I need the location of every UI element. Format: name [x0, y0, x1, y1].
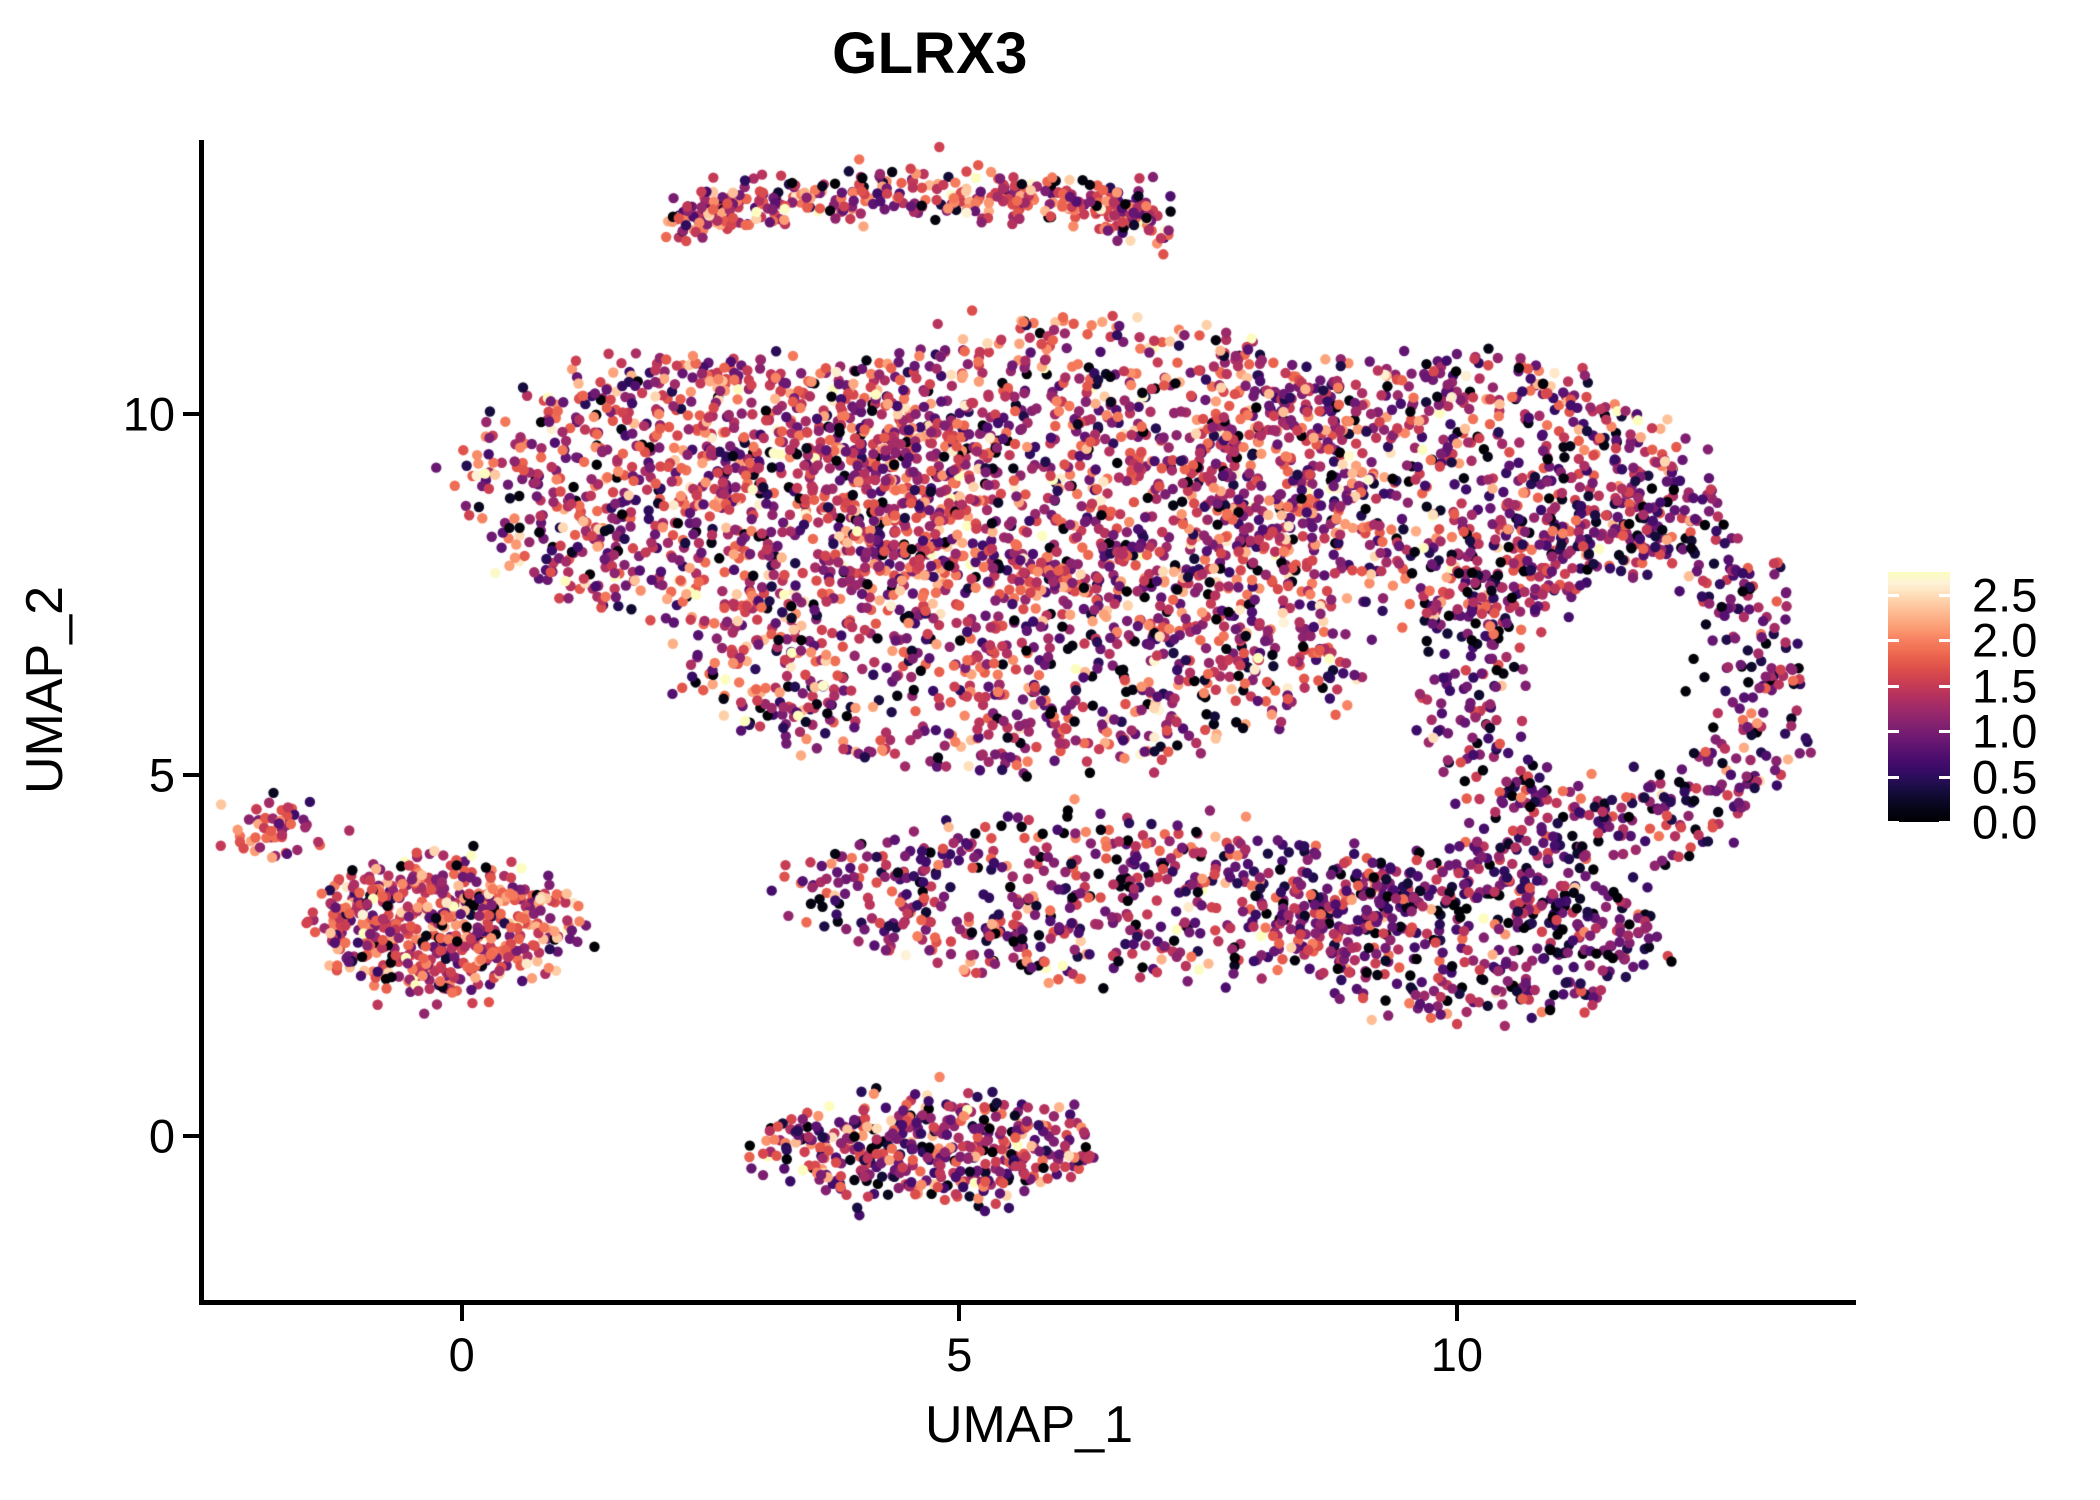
- colorbar-tick-mark: [1888, 730, 1899, 733]
- colorbar-tick-mark: [1888, 821, 1899, 824]
- colorbar-tick-mark: [1888, 685, 1899, 688]
- x-tick-label: 5: [946, 1327, 972, 1382]
- y-tick-label: 0: [149, 1109, 175, 1164]
- x-tick-mark: [1455, 1305, 1459, 1321]
- y-tick-label: 10: [123, 387, 175, 442]
- y-tick-mark: [183, 1134, 199, 1138]
- y-axis-line: [199, 140, 204, 1305]
- plot-panel: [203, 140, 1855, 1302]
- umap-feature-plot: GLRX3 UMAP_1 UMAP_2 2.52.01.51.00.50.0 0…: [0, 0, 2100, 1500]
- colorbar-tick-mark: [1888, 776, 1899, 779]
- y-tick-mark: [183, 412, 199, 416]
- colorbar-tick-mark: [1939, 639, 1950, 642]
- scatter-points-layer: [203, 140, 1855, 1302]
- colorbar-tick-mark: [1888, 639, 1899, 642]
- x-tick-mark: [460, 1305, 464, 1321]
- page-title: GLRX3: [0, 20, 1860, 87]
- colorbar-tick-mark: [1939, 821, 1950, 824]
- colorbar-tick-mark: [1939, 685, 1950, 688]
- colorbar-tick-mark: [1939, 594, 1950, 597]
- colorbar-gradient: [1888, 572, 1950, 822]
- x-axis-line: [199, 1300, 1856, 1305]
- x-tick-mark: [957, 1305, 961, 1321]
- y-tick-label: 5: [149, 748, 175, 803]
- y-tick-mark: [183, 773, 199, 777]
- y-axis-title: UMAP_2: [15, 370, 75, 1010]
- colorbar-tick-mark: [1939, 776, 1950, 779]
- x-axis-title: UMAP_1: [203, 1395, 1855, 1455]
- colorbar-tick-mark: [1939, 730, 1950, 733]
- colorbar-tick-label: 0.0: [1972, 795, 2037, 850]
- colorbar-tick-mark: [1888, 594, 1899, 597]
- x-tick-label: 10: [1431, 1327, 1483, 1382]
- x-tick-label: 0: [449, 1327, 475, 1382]
- colorbar-legend: 2.52.01.51.00.50.0: [1888, 572, 2078, 832]
